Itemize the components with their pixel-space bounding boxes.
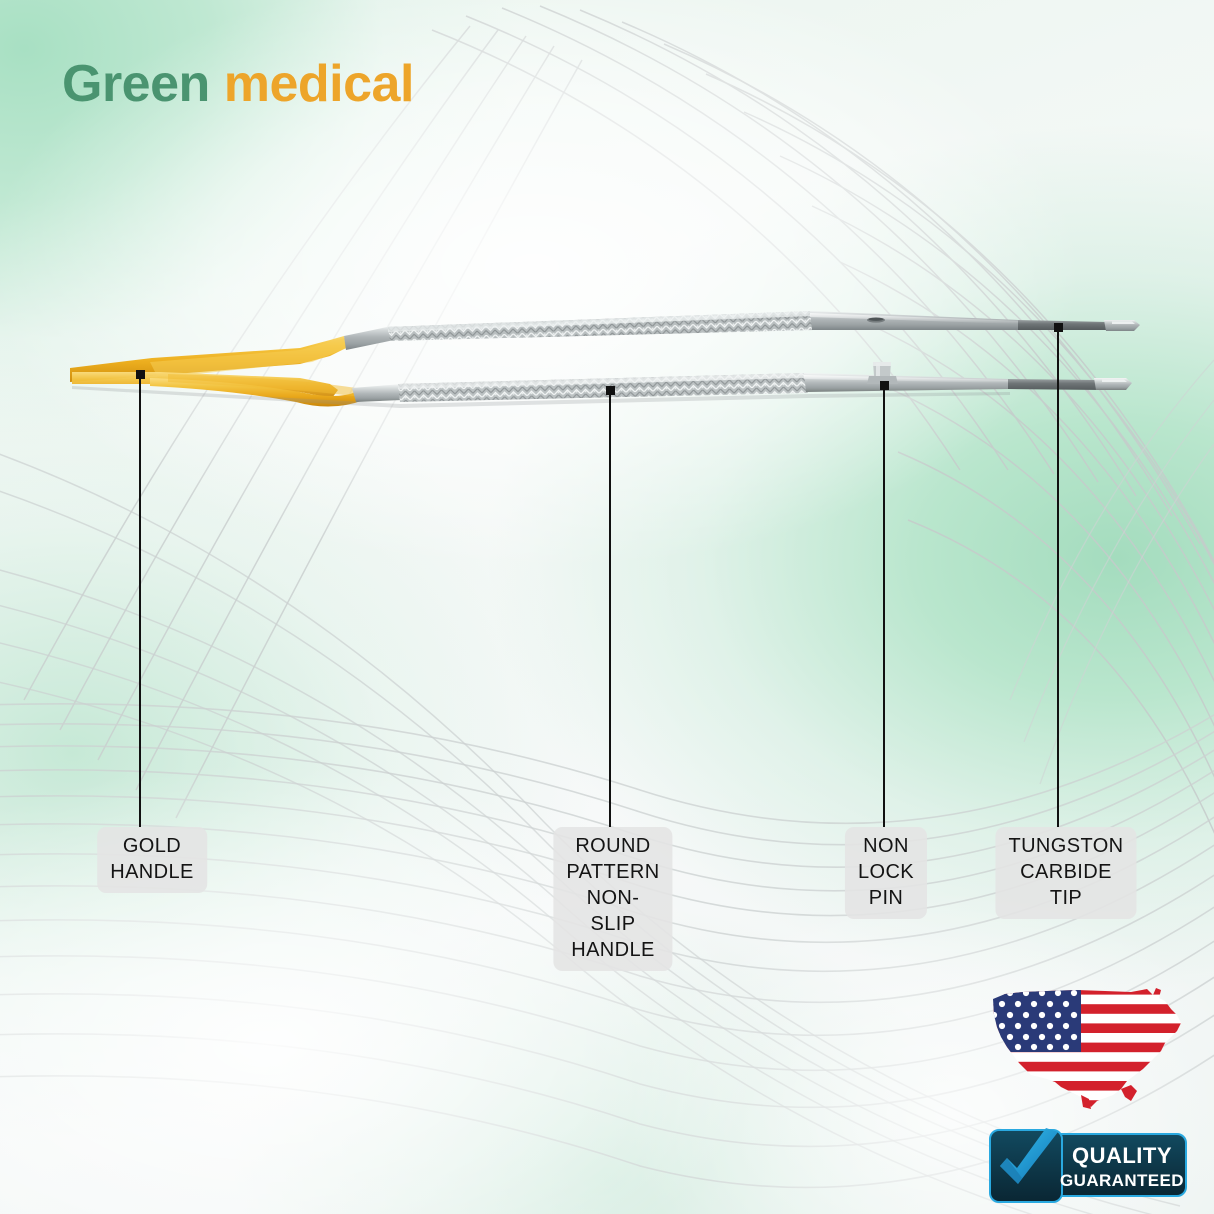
- callout-leader-line: [139, 374, 141, 827]
- quality-guaranteed-badge: QUALITY GUARANTEED: [988, 1128, 1190, 1206]
- callout-marker-dot: [880, 381, 889, 390]
- brand-logo: Green medical: [62, 58, 414, 110]
- callout-leader-line: [883, 385, 885, 827]
- product-infographic: Green medical: [0, 0, 1214, 1214]
- callout-label-round-pattern-non-slip-handle: ROUND PATTERN NON-SLIP HANDLE: [553, 827, 672, 971]
- callout-leader-line: [609, 390, 611, 827]
- usa-flag-map-badge: [985, 985, 1190, 1110]
- brand-word-green: Green: [62, 55, 210, 113]
- quality-line-two: GUARANTEED: [1060, 1171, 1184, 1190]
- callout-label-gold-handle: GOLD HANDLE: [97, 827, 207, 893]
- callout-marker-dot: [136, 370, 145, 379]
- callout-marker-dot: [606, 386, 615, 395]
- quality-line-one: QUALITY: [1072, 1143, 1172, 1168]
- callout-marker-dot: [1054, 323, 1063, 332]
- brand-word-medical: medical: [224, 55, 414, 113]
- callout-label-non-lock-pin: NON LOCK PIN: [845, 827, 927, 919]
- callout-label-tungston-carbide-tip: TUNGSTON CARBIDE TIP: [995, 827, 1136, 919]
- callout-leader-line: [1057, 327, 1059, 827]
